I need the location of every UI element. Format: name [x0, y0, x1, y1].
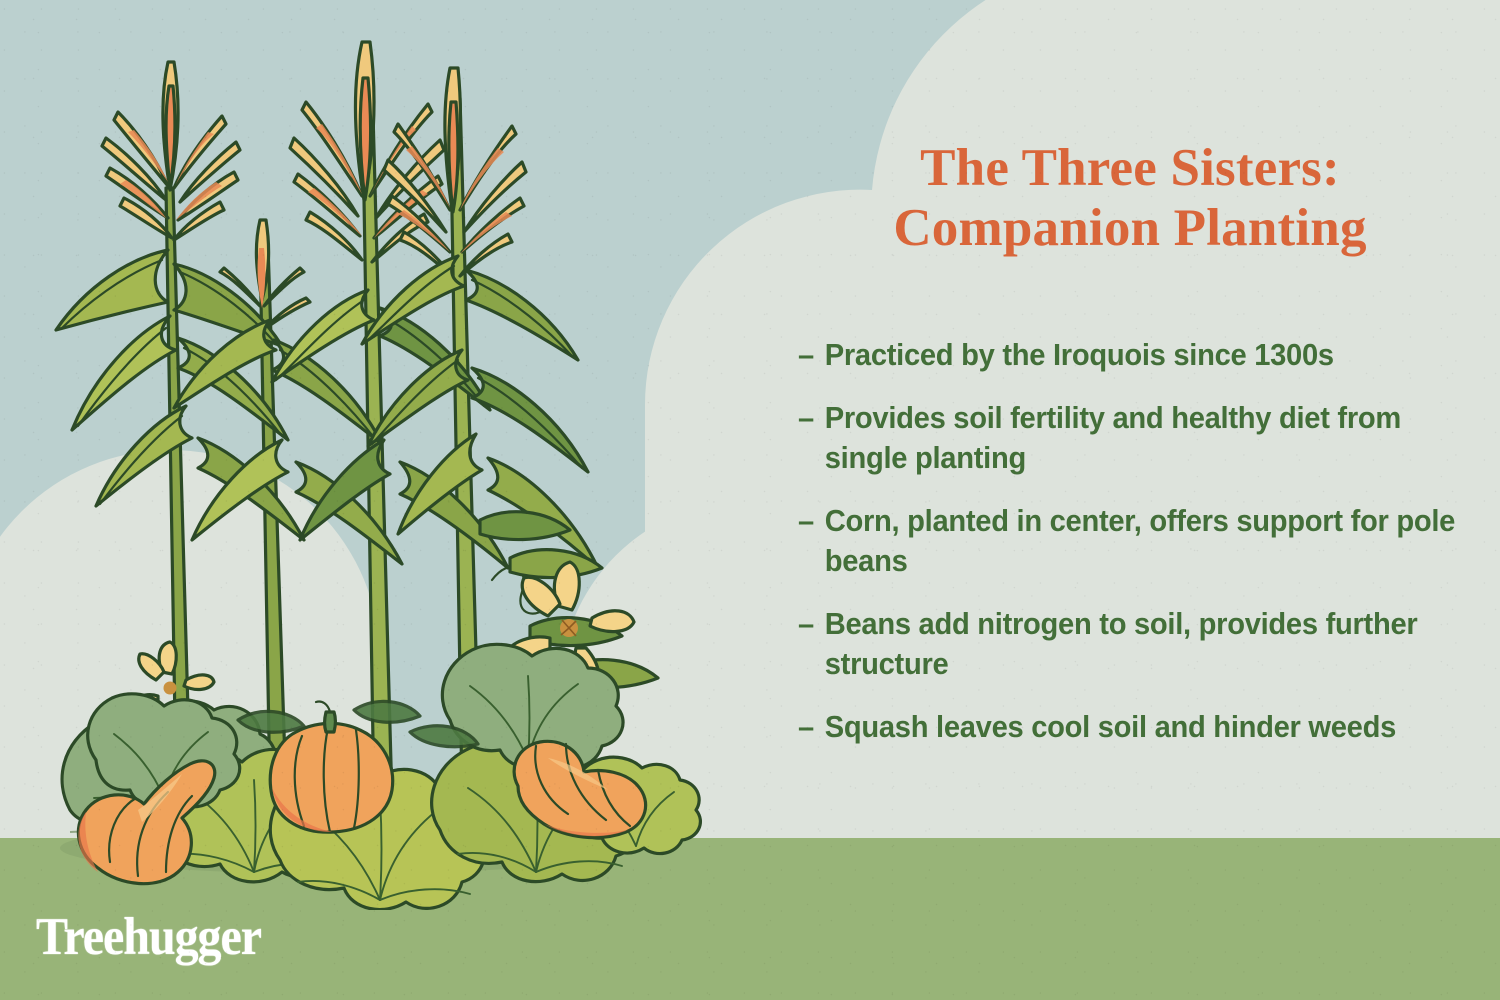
- list-item-text: Squash leaves cool soil and hinder weeds: [825, 707, 1457, 748]
- title-line-1: The Three Sisters:: [920, 139, 1340, 197]
- page-title: The Three Sisters: Companion Planting: [790, 138, 1470, 259]
- list-item: – Practiced by the Iroquois since 1300s: [798, 335, 1457, 376]
- list-item: – Provides soil fertility and healthy di…: [798, 398, 1457, 479]
- text-column: The Three Sisters: Companion Planting – …: [790, 0, 1490, 1000]
- bullet-dash-icon: –: [798, 707, 825, 748]
- bullet-dash-icon: –: [798, 604, 825, 645]
- list-item-text: Provides soil fertility and healthy diet…: [825, 398, 1457, 479]
- list-item-text: Beans add nitrogen to soil, provides fur…: [825, 604, 1457, 685]
- three-sisters-illustration: .ol { stroke:#2c4a27; stroke-width:3.2; …: [10, 20, 730, 910]
- bullet-dash-icon: –: [798, 501, 825, 542]
- bullet-dash-icon: –: [798, 335, 825, 376]
- list-item: – Squash leaves cool soil and hinder wee…: [798, 707, 1457, 748]
- list-item-text: Corn, planted in center, offers support …: [825, 501, 1457, 582]
- list-item-text: Practiced by the Iroquois since 1300s: [825, 335, 1457, 376]
- title-line-2: Companion Planting: [790, 198, 1470, 258]
- list-item: – Corn, planted in center, offers suppor…: [798, 501, 1457, 582]
- bullet-dash-icon: –: [798, 398, 825, 439]
- poster-canvas: .ol { stroke:#2c4a27; stroke-width:3.2; …: [0, 0, 1500, 1000]
- fact-list: – Practiced by the Iroquois since 1300s …: [798, 335, 1488, 770]
- treehugger-logo: Treehugger: [36, 911, 261, 964]
- list-item: – Beans add nitrogen to soil, provides f…: [798, 604, 1457, 685]
